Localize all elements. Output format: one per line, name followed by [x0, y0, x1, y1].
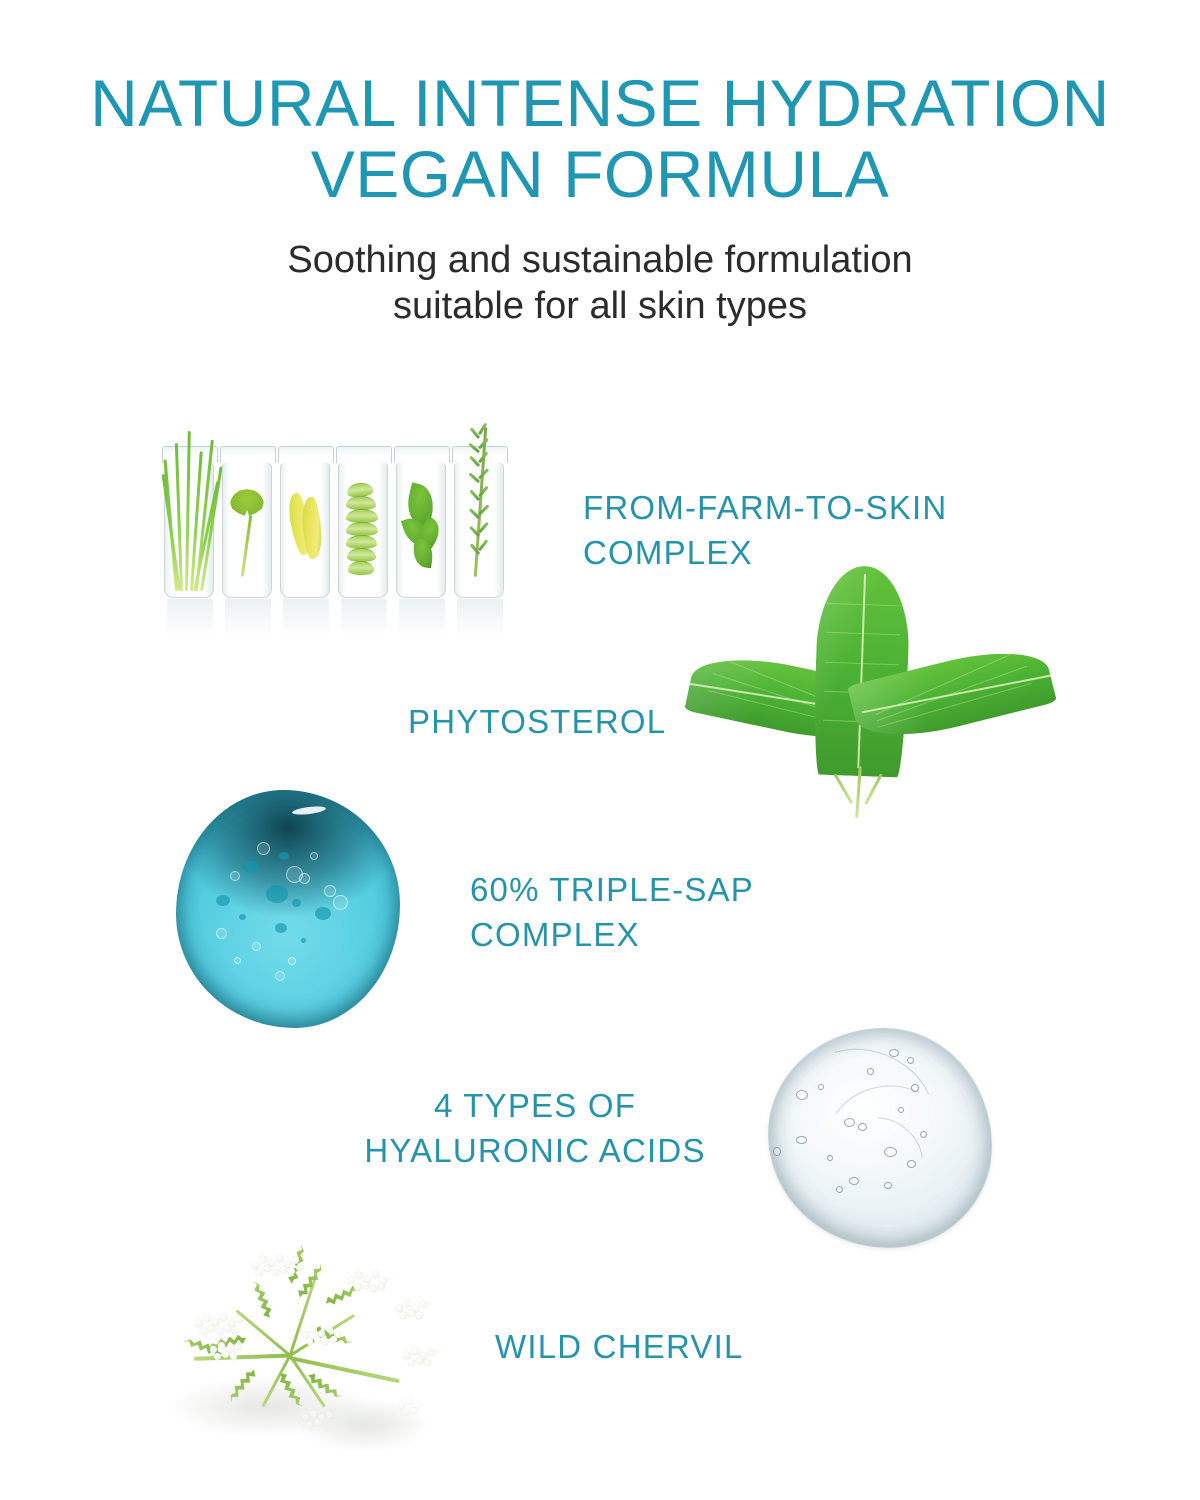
- ingredient-label-hyaluronic-acids: 4 TYPES OF HYALURONIC ACIDS: [350, 1084, 720, 1173]
- ingredient-label-phytosterol: PHYTOSTEROL: [408, 700, 738, 745]
- leaf-center: [812, 565, 911, 778]
- vial-wheatgrass: [164, 463, 214, 598]
- chervil-umbel: [194, 1312, 246, 1338]
- vial-centella: [222, 463, 272, 598]
- page-title-line-2: VEGAN FORMULA: [0, 139, 1200, 210]
- avocado-slice-icon: [281, 463, 329, 597]
- blue-gel-droplet-image: [176, 790, 400, 1028]
- chervil-umbel-reflection: [300, 1408, 352, 1434]
- ingredient-label-wild-chervil: WILD CHERVIL: [495, 1325, 825, 1370]
- wild-chervil-flower-image: [150, 1228, 450, 1458]
- leaf-stem-right: [864, 773, 882, 804]
- chervil-foliage: [250, 1278, 275, 1319]
- page-title-line-1: NATURAL INTENSE HYDRATION: [0, 68, 1200, 139]
- clear-gel-droplet-image: [768, 1028, 992, 1248]
- page-subtitle-line-2: suitable for all skin types: [0, 283, 1200, 329]
- gel-highlight: [292, 805, 327, 816]
- mint-leaf-icon: [397, 463, 445, 597]
- centella-leaf-icon: [223, 463, 271, 597]
- wheatgrass-icon: [165, 463, 213, 597]
- chervil-umbel: [394, 1298, 446, 1324]
- aloe-slices-icon: [339, 463, 387, 597]
- chervil-umbel: [402, 1346, 454, 1372]
- vial-avocado: [280, 463, 330, 598]
- glass-vials-botanicals-image: [160, 415, 520, 640]
- chervil-umbel-reflection: [396, 1396, 448, 1422]
- page-subtitle-line-1: Soothing and sustainable formulation: [0, 237, 1200, 283]
- vial-aloe: [338, 463, 388, 598]
- page-subtitle: Soothing and sustainable formulation sui…: [0, 211, 1200, 330]
- rosemary-sprig-icon: [455, 463, 503, 597]
- ingredient-label-triple-sap-complex: 60% TRIPLE-SAP COMPLEX: [470, 868, 830, 957]
- vial-rosemary: [454, 463, 504, 598]
- chervil-umbel: [250, 1254, 302, 1280]
- header: NATURAL INTENSE HYDRATION VEGAN FORMULA …: [0, 0, 1200, 329]
- page-title: NATURAL INTENSE HYDRATION VEGAN FORMULA: [0, 0, 1200, 211]
- chervil-umbel: [208, 1340, 260, 1366]
- vial-mint: [396, 463, 446, 598]
- chervil-umbel: [300, 1324, 352, 1350]
- leaf-stem-left: [834, 774, 853, 805]
- chervil-umbel: [346, 1270, 398, 1296]
